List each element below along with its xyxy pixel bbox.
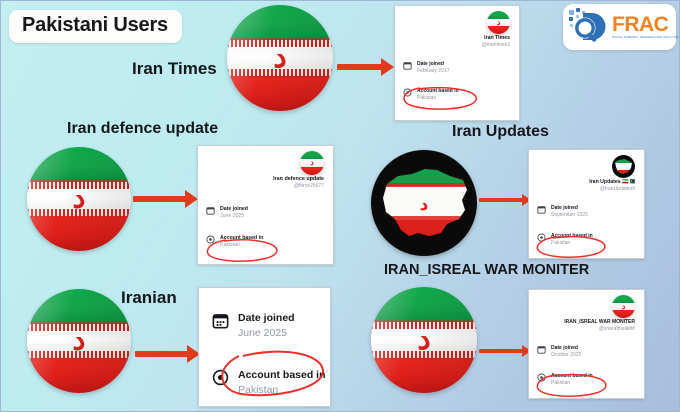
account-based-in-label: Account based in [551, 373, 593, 379]
account-based-in-label: Account based in [551, 233, 593, 239]
card-avatar-iran-times: د [487, 11, 510, 34]
account-based-in-value: Pakistan [551, 380, 593, 386]
profile-card-iran-isreal-war-moniter: د IRAN_ISREAL WAR MONITER @sharafmalik88… [528, 289, 645, 399]
location-pin-icon [537, 373, 546, 382]
card-handle: @irantimes3 [482, 43, 510, 49]
heading-iran-updates: Iran Updates [452, 124, 549, 140]
card-avatar-iran-defence-update: د [300, 151, 324, 175]
profile-card-iran-times: د Iran Times @irantimes3 Date joined Feb… [394, 5, 520, 121]
iran-map-circle-icon: د [371, 150, 477, 256]
card-display-name: Iran Updates 🇮🇷🇵🇰 [589, 180, 635, 186]
iran-flag-circle-icon: د [27, 147, 131, 251]
profile-card-iranian: Date joined June 2025 Account based in P… [198, 287, 331, 407]
date-joined-value: June 2025 [220, 213, 248, 219]
page-title-text: Pakistani Users [22, 14, 168, 36]
svg-text:د: د [420, 195, 429, 215]
iran-flag-circle-icon: د [27, 289, 131, 393]
card-handle: @force25677 [294, 184, 324, 190]
card-handle: @sharafmalik88 [599, 327, 635, 333]
card-avatar-iran-isreal-war-moniter: د [612, 295, 635, 318]
date-joined-label: Date joined [551, 205, 588, 211]
date-joined-value: September 2025 [551, 212, 588, 218]
location-pin-icon [403, 88, 412, 97]
date-joined-label: Date joined [417, 61, 450, 67]
profile-card-iran-defence-update: د Iran defence update @force25677 Date j… [197, 145, 334, 265]
frac-tagline: DIGITAL FORENSIC, RESEARCH AND ANALYTICS… [612, 37, 680, 40]
arrow-iran-times [337, 64, 383, 70]
frac-logo: FRAC DIGITAL FORENSIC, RESEARCH AND ANAL… [563, 4, 676, 50]
account-based-in-value: Pakistan [238, 384, 326, 397]
card-display-name: IRAN_ISREAL WAR MONITER [564, 320, 635, 326]
location-pin-icon [537, 233, 546, 242]
account-based-in-label: Account based in [220, 235, 263, 241]
calendar-icon [537, 205, 546, 214]
arrow-iran-defence-update [133, 196, 187, 202]
arrow-iran-isreal-war-moniter [479, 349, 523, 353]
account-based-in-value: Pakistan [220, 242, 263, 248]
location-pin-icon [206, 235, 215, 244]
date-joined-value: February 2017 [417, 68, 450, 74]
poster-canvas: Pakistani Users FRAC DIGITAL FORENSIC, R… [0, 0, 680, 412]
page-title: Pakistani Users [9, 10, 182, 43]
card-avatar-iran-updates [612, 155, 635, 178]
calendar-icon [403, 61, 412, 70]
calendar-icon [537, 345, 546, 354]
date-joined-label: Date joined [238, 312, 295, 325]
account-based-in-value: Pakistan [417, 95, 459, 101]
calendar-icon [206, 206, 215, 215]
card-display-name: Iran Times [484, 36, 510, 42]
account-based-in-label: Account based in [417, 88, 459, 94]
magnifier-logo-icon [567, 7, 611, 47]
date-joined-value: June 2025 [238, 327, 295, 340]
heading-iran-defence-update: Iran defence update [67, 121, 218, 137]
account-based-in-label: Account based in [238, 369, 326, 382]
iran-flag-circle-icon: د [371, 287, 477, 393]
heading-iran-isreal-war-moniter: IRAN_ISREAL WAR MONITER [384, 263, 589, 278]
heading-iran-times: Iran Times [132, 60, 217, 77]
arrow-iranian [135, 351, 189, 357]
frac-wordmark: FRAC [612, 14, 680, 35]
arrow-iran-updates [479, 198, 523, 202]
location-pin-icon [212, 369, 229, 386]
date-joined-label: Date joined [551, 345, 581, 351]
calendar-icon [212, 312, 229, 329]
card-handle: @IranUpdates9 [600, 187, 635, 193]
iran-flag-circle-icon: د [227, 5, 333, 111]
date-joined-value: October 2025 [551, 352, 581, 358]
profile-card-iran-updates: Iran Updates 🇮🇷🇵🇰 @IranUpdates9 Date joi… [528, 149, 645, 259]
date-joined-label: Date joined [220, 206, 248, 212]
account-based-in-value: Pakistan [551, 240, 593, 246]
